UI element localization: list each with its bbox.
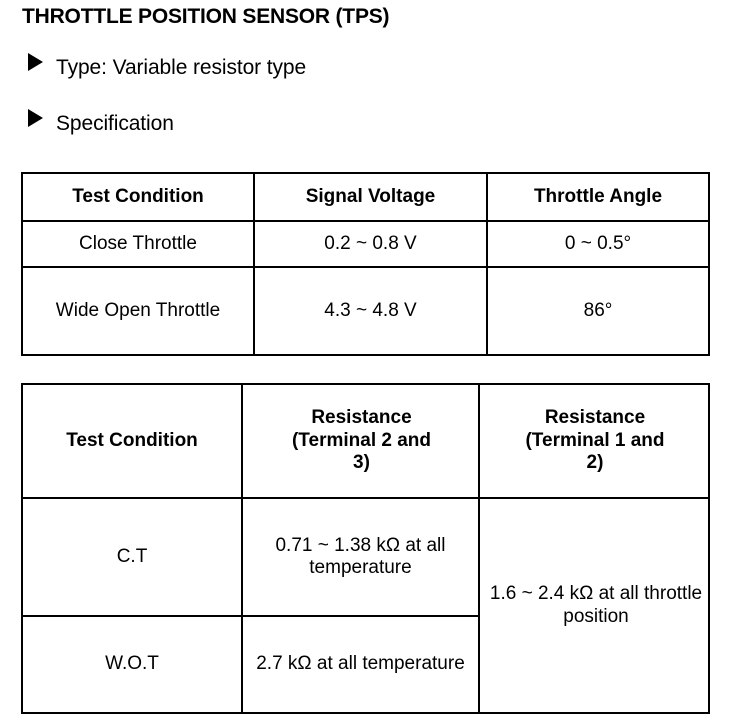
document-page: THROTTLE POSITION SENSOR (TPS) Type: Var… bbox=[0, 0, 752, 714]
resistance-table: Test Condition Resistance (Terminal 2 an… bbox=[21, 383, 710, 714]
cell-throttle-angle: 86° bbox=[487, 267, 709, 355]
column-header-test-condition: Test Condition bbox=[22, 173, 254, 221]
header-line-2: (Terminal 2 and bbox=[292, 430, 431, 451]
bullet-item-type-label: Type: Variable resistor type bbox=[56, 56, 306, 80]
column-header-throttle-angle: Throttle Angle bbox=[487, 173, 709, 221]
cell-throttle-angle: 0 ~ 0.5° bbox=[487, 221, 709, 267]
column-header-resistance-terminal-2-3: Resistance (Terminal 2 and 3) bbox=[242, 384, 479, 498]
column-header-signal-voltage: Signal Voltage bbox=[254, 173, 487, 221]
header-line-3: 3) bbox=[353, 452, 370, 473]
cell-test-condition: Wide Open Throttle bbox=[22, 267, 254, 355]
table-row: Wide Open Throttle 4.3 ~ 4.8 V 86° bbox=[22, 267, 709, 355]
cell-test-condition: W.O.T bbox=[22, 616, 242, 713]
table-header-row: Test Condition Resistance (Terminal 2 an… bbox=[22, 384, 709, 498]
cell-test-condition: C.T bbox=[22, 498, 242, 616]
column-header-resistance-terminal-1-2: Resistance (Terminal 1 and 2) bbox=[479, 384, 709, 498]
page-title: THROTTLE POSITION SENSOR (TPS) bbox=[22, 5, 389, 29]
cell-test-condition: Close Throttle bbox=[22, 221, 254, 267]
cell-signal-voltage: 4.3 ~ 4.8 V bbox=[254, 267, 487, 355]
cell-resistance-terminal-2-3: 2.7 kΩ at all temperature bbox=[242, 616, 479, 713]
cell-resistance-terminal-1-2-merged: 1.6 ~ 2.4 kΩ at all throttle position bbox=[479, 498, 709, 713]
header-line-1: Resistance bbox=[311, 407, 411, 428]
table-row: C.T 0.71 ~ 1.38 kΩ at all temperature 1.… bbox=[22, 498, 709, 616]
bullet-item-specification-label: Specification bbox=[56, 112, 174, 136]
bullet-item-type: Type: Variable resistor type bbox=[28, 56, 306, 80]
cell-signal-voltage: 0.2 ~ 0.8 V bbox=[254, 221, 487, 267]
column-header-test-condition: Test Condition bbox=[22, 384, 242, 498]
specification-table: Test Condition Signal Voltage Throttle A… bbox=[21, 172, 710, 356]
header-line-3: 2) bbox=[587, 452, 604, 473]
table-row: Close Throttle 0.2 ~ 0.8 V 0 ~ 0.5° bbox=[22, 221, 709, 267]
bullet-item-specification: Specification bbox=[28, 112, 174, 136]
cell-resistance-terminal-2-3: 0.71 ~ 1.38 kΩ at all temperature bbox=[242, 498, 479, 616]
table-header-row: Test Condition Signal Voltage Throttle A… bbox=[22, 173, 709, 221]
triangle-right-icon bbox=[28, 53, 43, 71]
header-line-2: (Terminal 1 and bbox=[525, 430, 664, 451]
triangle-right-icon bbox=[28, 109, 43, 127]
header-line-1: Resistance bbox=[545, 407, 645, 428]
